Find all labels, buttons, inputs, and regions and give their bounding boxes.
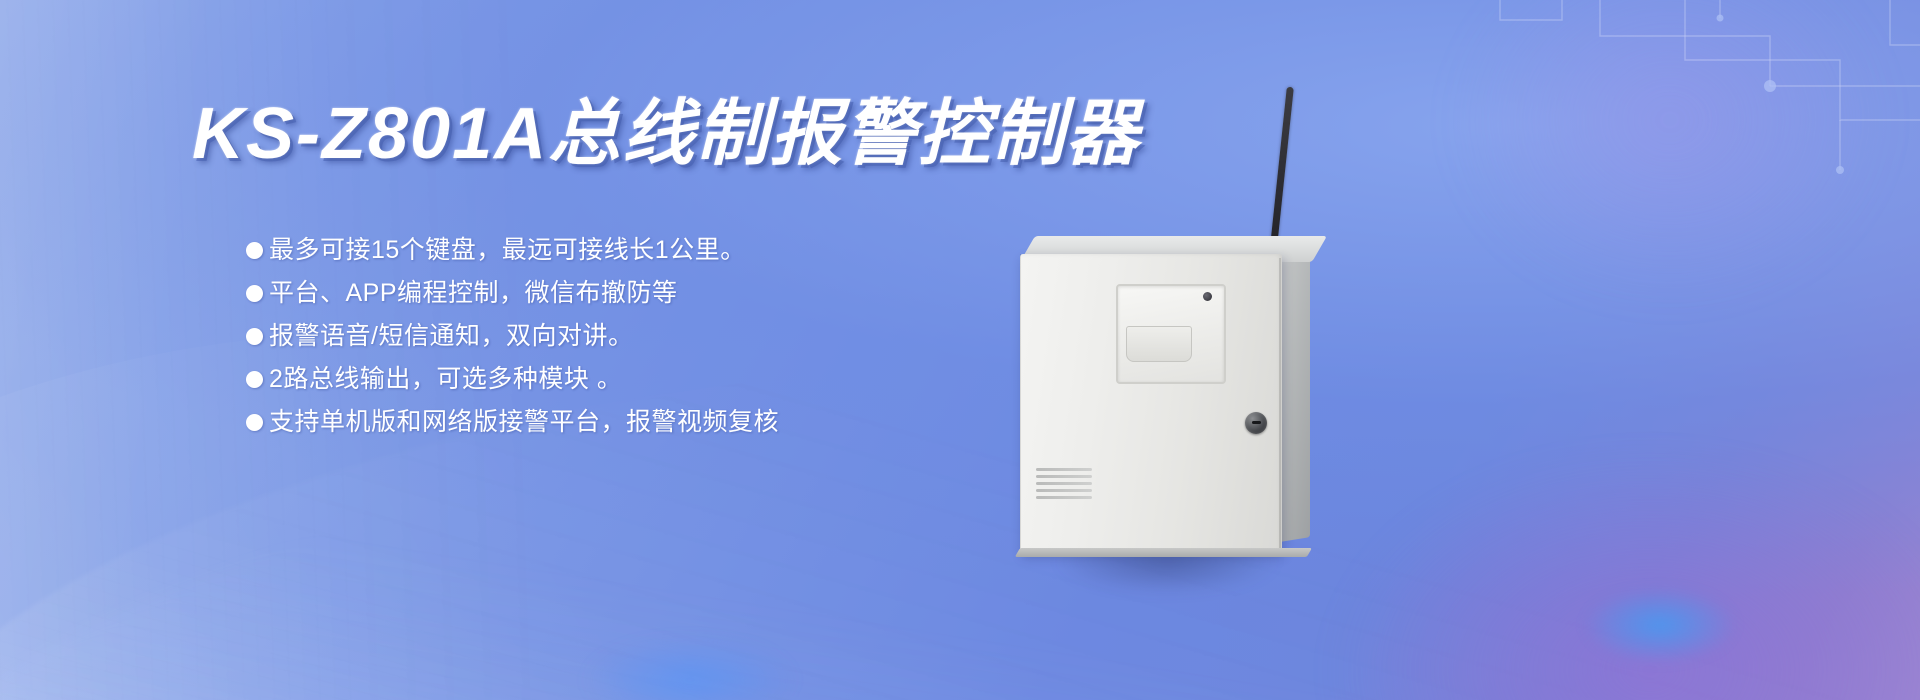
product-image <box>1000 86 1420 606</box>
list-item: 平台、APP编程控制，微信布撤防等 <box>246 281 779 306</box>
status-led-icon <box>1203 292 1212 301</box>
feature-text: 最多可接15个键盘，最远可接线长1公里。 <box>269 238 746 263</box>
door-seam-right <box>1279 258 1281 550</box>
bullet-dot-icon <box>246 328 263 345</box>
enclosure-bottom-edge <box>1015 548 1312 557</box>
feature-text: 报警语音/短信通知，双向对讲。 <box>269 324 633 349</box>
background-blue-glow <box>1550 570 1770 680</box>
page-title: KS-Z801A总线制报警控制器 <box>192 74 1140 179</box>
key-lock-slot <box>1252 421 1261 424</box>
list-item: 2路总线输出，可选多种模块 。 <box>246 367 779 392</box>
door-seam-left <box>1020 254 1021 554</box>
feature-text: 2路总线输出，可选多种模块 。 <box>269 367 622 392</box>
display-window-handle <box>1126 326 1192 362</box>
list-item: 报警语音/短信通知，双向对讲。 <box>246 324 779 349</box>
feature-list: 最多可接15个键盘，最远可接线长1公里。 平台、APP编程控制，微信布撤防等 报… <box>246 238 779 453</box>
background-blue-glow-left <box>540 620 840 700</box>
list-item: 支持单机版和网络版接警平台，报警视频复核 <box>246 410 779 435</box>
bullet-dot-icon <box>246 371 263 388</box>
product-banner: KS-Z801A总线制报警控制器 最多可接15个键盘，最远可接线长1公里。 平台… <box>0 0 1920 700</box>
feature-text: 平台、APP编程控制，微信布撤防等 <box>269 281 678 306</box>
vent-slots <box>1036 468 1092 506</box>
list-item: 最多可接15个键盘，最远可接线长1公里。 <box>246 238 779 263</box>
bullet-dot-icon <box>246 242 263 259</box>
feature-text: 支持单机版和网络版接警平台，报警视频复核 <box>269 410 779 435</box>
bullet-dot-icon <box>246 285 263 302</box>
bullet-dot-icon <box>246 414 263 431</box>
